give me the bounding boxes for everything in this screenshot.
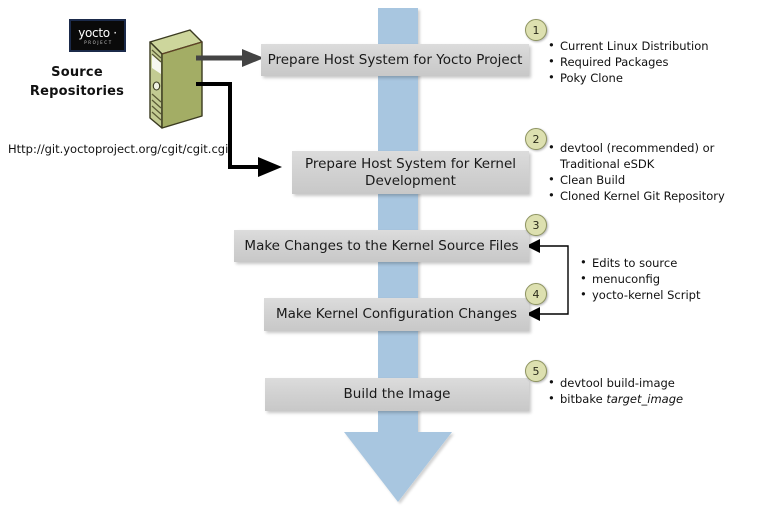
process-box-make-source-changes[interactable]: Make Changes to the Kernel Source Files	[234, 230, 529, 262]
list-item: Clean Build	[548, 172, 753, 188]
step-5-notes: devtool build-image bitbake target_image	[548, 375, 753, 407]
process-box-prepare-host-yocto[interactable]: Prepare Host System for Yocto Project	[261, 44, 529, 76]
step-2-notes: devtool (recommended) or Traditional eSD…	[548, 140, 753, 204]
process-box-make-config-changes[interactable]: Make Kernel Configuration Changes	[264, 298, 529, 331]
server-tower-icon	[128, 28, 204, 140]
step-badge-2: 2	[525, 128, 547, 150]
list-item: yocto-kernel Script	[580, 287, 750, 303]
yocto-project-logo: yocto · PROJECT	[69, 19, 126, 52]
list-item: Edits to source	[580, 255, 750, 271]
process-box-build-image[interactable]: Build the Image	[265, 378, 529, 411]
bitbake-command-prefix: bitbake	[560, 392, 606, 406]
yocto-logo-subtitle: PROJECT	[84, 41, 112, 45]
step-3-4-shared-notes: Edits to source menuconfig yocto-kernel …	[580, 255, 750, 303]
list-item: devtool build-image	[548, 375, 753, 391]
step-badge-4: 4	[525, 283, 547, 305]
list-item: Cloned Kernel Git Repository	[548, 188, 753, 204]
source-label-line1: Source	[18, 63, 136, 82]
source-repositories-label: Source Repositories	[18, 63, 136, 101]
list-item: bitbake target_image	[548, 391, 753, 407]
step-badge-5: 5	[525, 360, 547, 382]
bitbake-target-placeholder: target_image	[606, 392, 683, 406]
list-item: Current Linux Distribution	[548, 38, 763, 54]
step-1-notes: Current Linux Distribution Required Pack…	[548, 38, 763, 86]
process-box-prepare-host-kernel[interactable]: Prepare Host System for Kernel Developme…	[292, 151, 529, 194]
list-item: Poky Clone	[548, 70, 763, 86]
step-badge-1: 1	[525, 19, 547, 41]
diagram-canvas: yocto · PROJECT Source Repositories Http…	[0, 0, 769, 517]
list-item: devtool (recommended) or Traditional eSD…	[548, 140, 753, 172]
list-item: Required Packages	[548, 54, 763, 70]
source-label-line2: Repositories	[18, 82, 136, 101]
step-badge-3: 3	[525, 214, 547, 236]
list-item: menuconfig	[580, 271, 750, 287]
yocto-logo-wordmark: yocto ·	[78, 27, 117, 39]
